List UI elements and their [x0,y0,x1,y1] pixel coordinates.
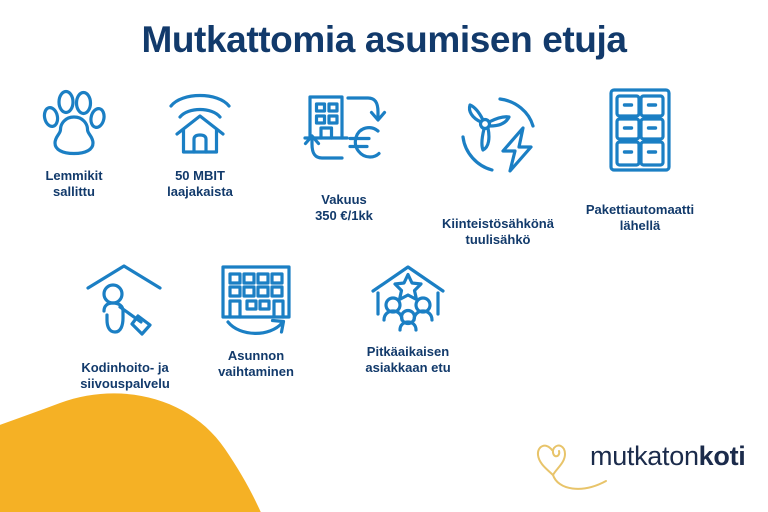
infographic-canvas: Mutkattomia asumisen etuja Lemmikit sall… [0,0,768,512]
benefit-item-pets: Lemmikit sallittu [14,86,134,201]
benefit-item-wind-power: Kiinteistösähkönä tuulisähkö [428,86,568,249]
benefit-item-broadband: 50 MBIT laajakaista [140,86,260,201]
logo-name-bold: koti [699,441,746,471]
wind-turbine-icon [428,86,568,182]
benefit-label: Vakuus 350 €/1kk [284,178,404,225]
benefit-label: Kodinhoito- ja siivouspalvelu [60,346,190,393]
building-euro-icon [284,86,404,170]
benefit-label: Pakettiautomaatti lähellä [570,182,710,235]
benefit-label: Lemmikit sallittu [14,166,134,201]
brand-logo[interactable]: mutkatonkoti [534,432,754,492]
page-title: Mutkattomia asumisen etuja [0,20,768,61]
cleaning-person-icon [60,262,190,338]
yellow-blob-decoration [0,389,300,512]
benefit-item-apartment-swap: Asunnon vaihtaminen [196,262,316,381]
logo-name-light: mutkaton [590,441,699,471]
benefit-label: Asunnon vaihtaminen [196,346,316,381]
paw-print-icon [14,86,134,158]
apartment-swap-icon [196,262,316,338]
benefit-label: Pitkäaikaisen asiakkaan etu [348,342,468,377]
wifi-house-icon [140,86,260,158]
logo-wordmark: mutkatonkoti [590,441,745,472]
benefit-label: Kiinteistösähkönä tuulisähkö [428,190,568,249]
benefit-item-home-cleaning: Kodinhoito- ja siivouspalvelu [60,262,190,393]
benefit-label: 50 MBIT laajakaista [140,166,260,201]
benefit-item-deposit: Vakuus 350 €/1kk [284,86,404,225]
parcel-locker-icon [570,86,710,174]
benefit-item-parcel-locker: Pakettiautomaatti lähellä [570,86,710,235]
house-star-people-icon [348,262,468,334]
benefit-item-loyalty: Pitkäaikaisen asiakkaan etu [348,262,468,377]
